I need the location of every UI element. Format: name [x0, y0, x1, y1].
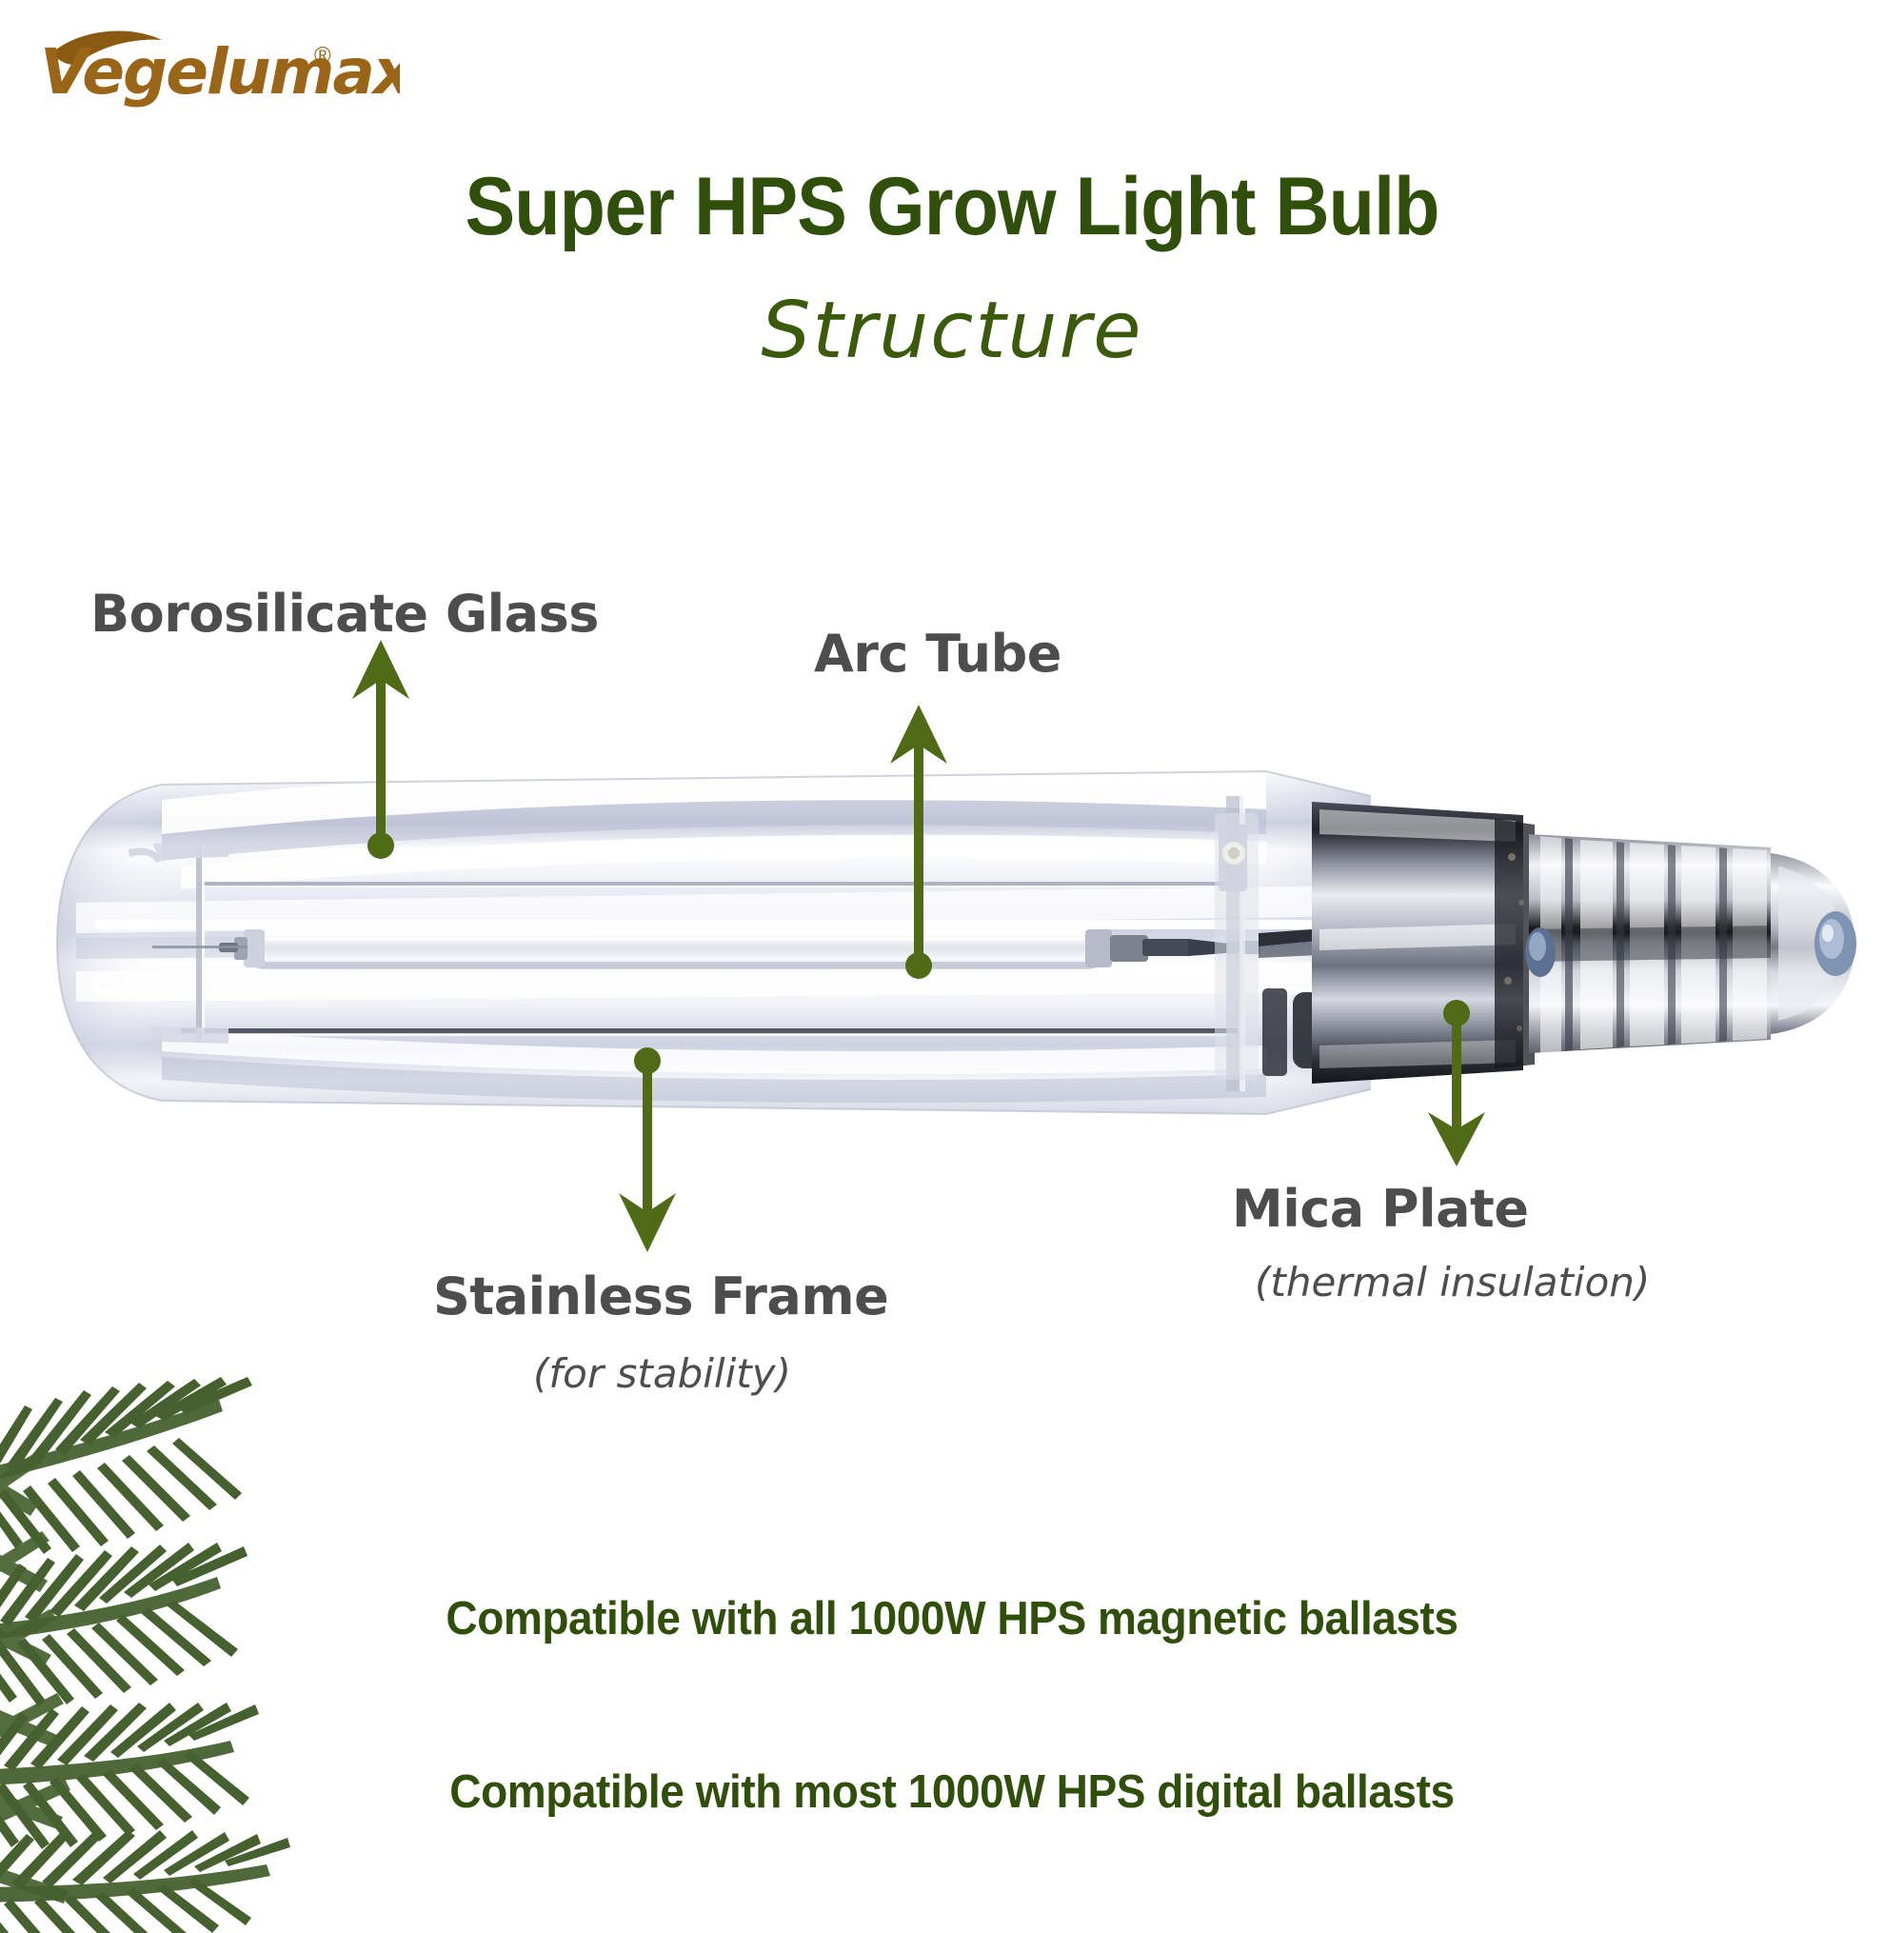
compatibility-line-1: Compatible with all 1000W HPS magnetic b… [57, 1592, 1847, 1645]
callout-arrow-mica-plate [1418, 1000, 1495, 1166]
callout-arrow-borosilicate-glass [343, 640, 419, 859]
page-title: Super HPS Grow Light Bulb [76, 160, 1828, 254]
callout-arrow-stainless-frame [609, 1047, 685, 1252]
callout-label-borosilicate-glass: Borosilicate Glass [90, 584, 599, 644]
callout-label-arc-tube: Arc Tube [814, 624, 1061, 684]
page-subtitle: Structure [0, 286, 1904, 376]
compatibility-line-2: Compatible with most 1000W HPS digital b… [57, 1765, 1847, 1819]
screw-base [1525, 834, 1856, 1053]
callout-note-mica-plate: (thermal insulation) [1255, 1259, 1650, 1305]
palm-frond-decoration [0, 1362, 362, 1933]
arc-tube-part [152, 927, 1260, 969]
infographic-canvas: Vegelumax ® Super HPS Grow Light Bulb St… [0, 0, 1904, 1904]
registered-mark: ® [314, 43, 331, 69]
callout-label-stainless-frame: Stainless Frame [433, 1266, 888, 1326]
brand-logo: Vegelumax ® [38, 21, 400, 112]
brand-name: Vegelumax [40, 35, 400, 109]
bulb-illustration [38, 743, 1885, 1143]
callout-label-mica-plate: Mica Plate [1232, 1179, 1528, 1239]
callout-arrow-arc-tube [881, 705, 957, 981]
callout-note-stainless-frame: (for stability) [533, 1350, 791, 1397]
